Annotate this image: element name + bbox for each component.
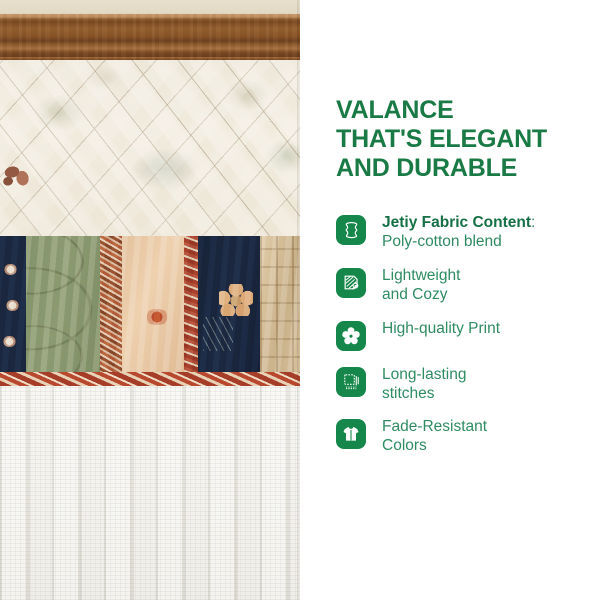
product-photo bbox=[0, 0, 300, 600]
floral-dot bbox=[3, 336, 16, 347]
patch-sage-green bbox=[26, 236, 100, 376]
headline-line-2: THAT'S ELEGANT bbox=[336, 125, 576, 154]
fabric-roll-icon bbox=[336, 268, 366, 298]
feature-label-line2: Poly-cotton blend bbox=[382, 233, 535, 252]
feature-item-stitches: Long-lasting stitches bbox=[336, 365, 576, 404]
plaid-grid bbox=[260, 236, 300, 376]
feature-label-strong: Jetiy Fabric Content bbox=[382, 214, 531, 231]
wooden-cornice bbox=[0, 14, 300, 62]
vine-stitching bbox=[203, 317, 233, 351]
headline-line-3: AND DURABLE bbox=[336, 154, 576, 183]
patch-navy-applique bbox=[198, 236, 260, 376]
feature-label-line2: stitches bbox=[382, 385, 466, 404]
quilted-cream-panel bbox=[0, 60, 300, 236]
floral-dot bbox=[4, 264, 17, 275]
patch-rust-speckle bbox=[100, 236, 122, 376]
headline-line-1: VALANCE bbox=[336, 96, 576, 125]
flower-icon bbox=[336, 321, 366, 351]
patch-peach bbox=[122, 236, 184, 376]
peach-bloom-motif bbox=[144, 309, 170, 325]
feature-label-line1: Lightweight bbox=[382, 267, 460, 284]
patch-red-floral bbox=[184, 236, 198, 376]
patch-navy-floral bbox=[0, 236, 26, 376]
feature-label: Long-lasting stitches bbox=[382, 365, 466, 404]
feature-label: Lightweight and Cozy bbox=[382, 266, 460, 305]
applique-flower bbox=[219, 284, 253, 316]
stitch-patch-icon bbox=[336, 367, 366, 397]
feature-label: High-quality Print bbox=[382, 319, 500, 339]
feature-item-lightweight: Lightweight and Cozy bbox=[336, 266, 576, 305]
feature-label: Jetiy Fabric Content: Poly-cotton blend bbox=[382, 213, 535, 252]
page-title: VALANCE THAT'S ELEGANT AND DURABLE bbox=[336, 96, 576, 183]
feature-item-fabric-content: Jetiy Fabric Content: Poly-cotton blend bbox=[336, 213, 576, 252]
info-panel: VALANCE THAT'S ELEGANT AND DURABLE Jetiy… bbox=[300, 0, 600, 600]
fan-quilting-lines bbox=[26, 236, 100, 376]
feature-label-punct: : bbox=[531, 214, 535, 231]
feature-label-line2: Colors bbox=[382, 437, 487, 456]
patch-tan-plaid bbox=[260, 236, 300, 376]
floral-dot bbox=[6, 300, 19, 311]
infographic-root: VALANCE THAT'S ELEGANT AND DURABLE Jetiy… bbox=[0, 0, 600, 600]
patchwork-band bbox=[0, 236, 300, 376]
feature-label: Fade-Resistant Colors bbox=[382, 417, 487, 456]
feature-item-print: High-quality Print bbox=[336, 319, 576, 351]
sheer-curtain bbox=[0, 386, 300, 600]
garment-icon bbox=[336, 419, 366, 449]
feature-label-line2: and Cozy bbox=[382, 286, 460, 305]
feature-label-line1: Fade-Resistant bbox=[382, 418, 487, 435]
quilt-puff-shading bbox=[0, 60, 300, 236]
feature-list: Jetiy Fabric Content: Poly-cotton blend … bbox=[336, 213, 576, 456]
feature-item-fade-resistant: Fade-Resistant Colors bbox=[336, 417, 576, 456]
floral-binding-strip bbox=[0, 372, 300, 386]
feature-label-line1: Long-lasting bbox=[382, 366, 466, 383]
fabric-hide-icon bbox=[336, 215, 366, 245]
feature-label-line1: High-quality Print bbox=[382, 320, 500, 337]
